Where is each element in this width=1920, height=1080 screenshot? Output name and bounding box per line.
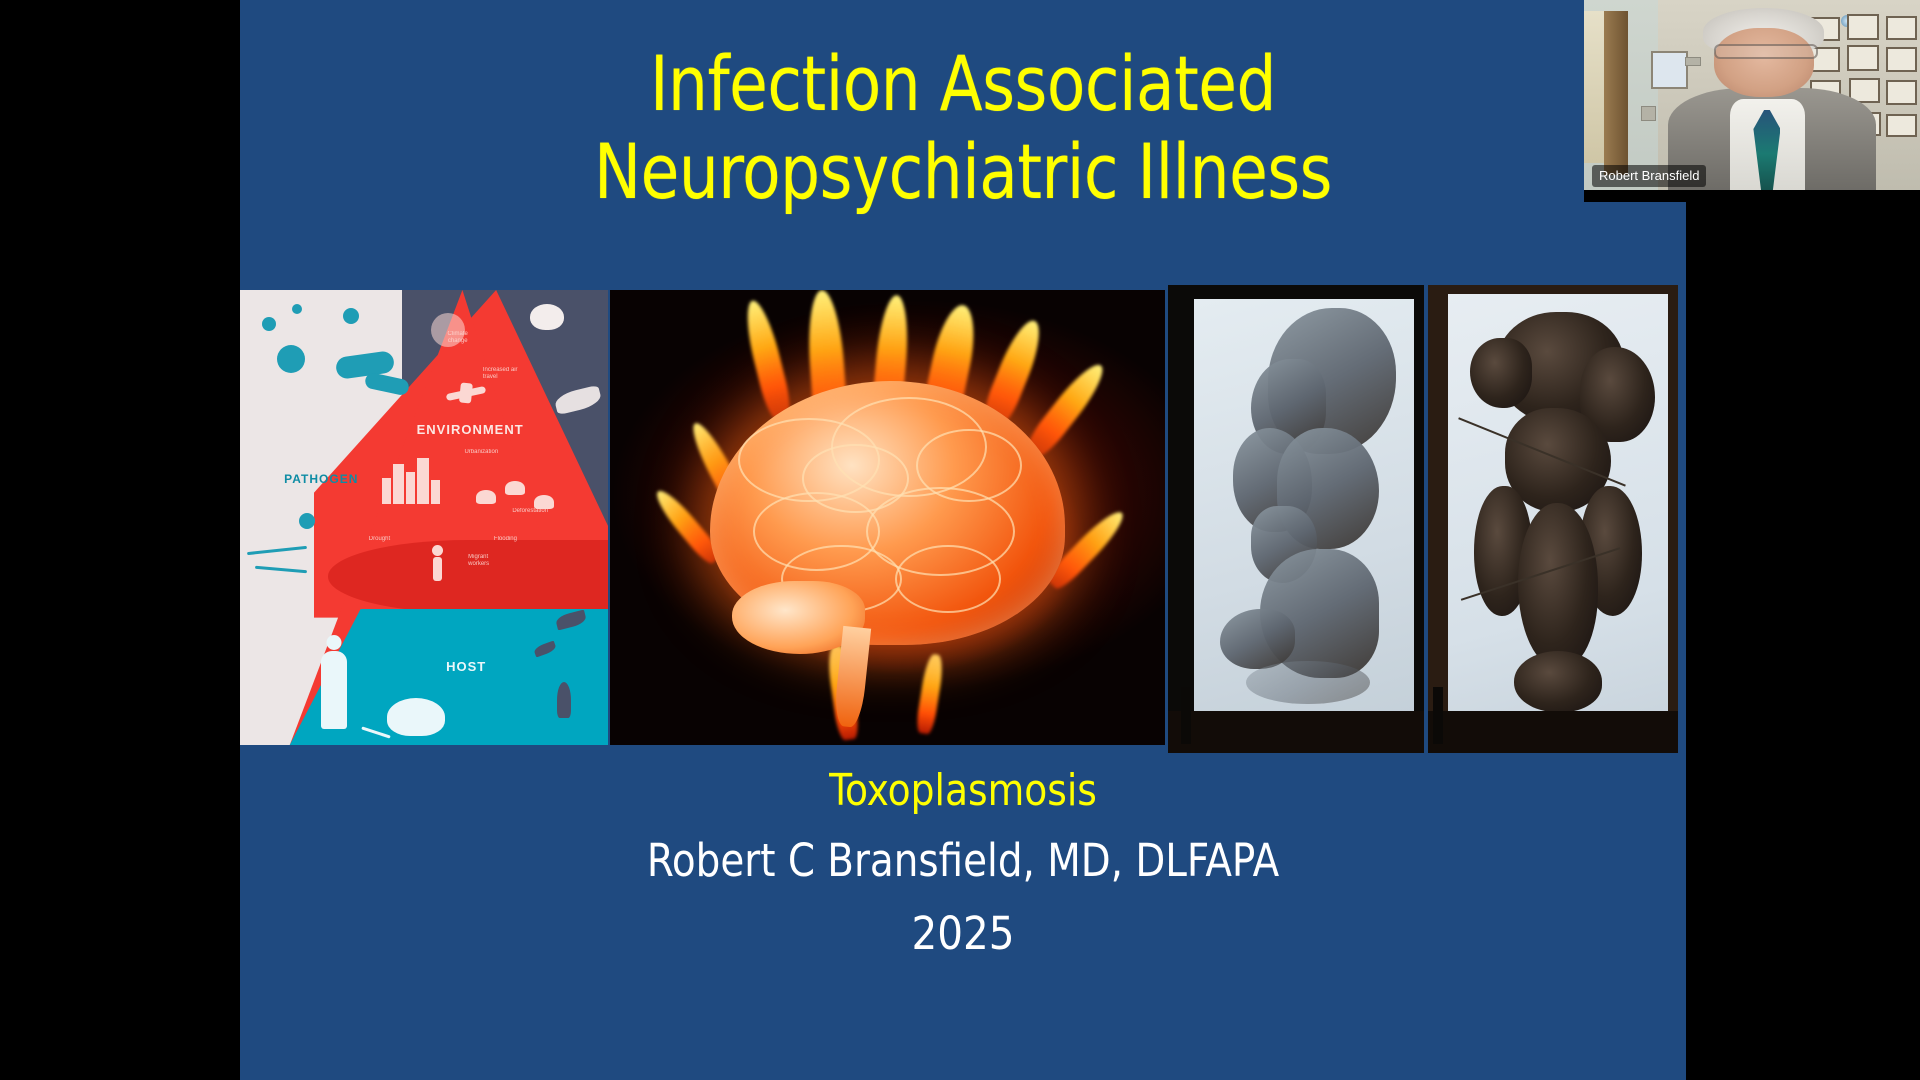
virus-icon <box>299 513 315 529</box>
infographic-flow-band <box>328 540 608 613</box>
infographic-sublabel-air-travel: Increased air travel <box>483 367 527 381</box>
infographic-sublabel-urbanization: Urbanization <box>464 449 498 456</box>
bird-icon <box>557 682 571 718</box>
grotesque-figure-painting <box>1168 285 1424 753</box>
human-figure-icon <box>321 635 347 731</box>
infographic-label-environment: ENVIRONMENT <box>417 422 524 437</box>
slide-title-line-2: Neuropsychiatric Illness <box>298 128 1628 216</box>
slide-author: Robert C Bransfield, MD, DLFAPA <box>269 824 1657 898</box>
participant-name-label: Robert Bransfield <box>1592 165 1706 187</box>
eyeglasses <box>1714 44 1818 59</box>
migrant-walker-icon <box>431 545 445 581</box>
presentation-slide: Infection Associated Neuropsychiatric Il… <box>240 0 1686 1080</box>
spirochete-icon <box>247 546 307 555</box>
infographic-sublabel-migrant-workers: Migrant workers <box>468 554 500 568</box>
slide-title-line-1: Infection Associated <box>298 40 1628 128</box>
infographic-sublabel-flooding: Flooding <box>494 536 517 543</box>
slide-subtitle-block: Toxoplasmosis Robert C Bransfield, MD, D… <box>240 758 1686 970</box>
virus-icon <box>343 308 359 324</box>
podium-silhouette <box>1433 687 1443 743</box>
infographic-sublabel-drought: Drought <box>369 536 390 543</box>
ink-drawing-distorted-face <box>1428 285 1678 753</box>
infographic-label-pathogen: PATHOGEN <box>284 472 358 486</box>
infographic-sublabel-deforestation: Deforestation <box>512 508 548 515</box>
city-skyline-icon <box>380 454 450 504</box>
pathogen-environment-host-infographic: PATHOGEN ENVIRONMENT HOST Climate change… <box>240 290 608 745</box>
drawing-canvas <box>1448 294 1668 729</box>
flaming-brain-photo <box>610 290 1165 745</box>
stage-floor <box>1168 711 1424 753</box>
virus-icon <box>277 345 305 373</box>
stage-floor <box>1428 711 1678 753</box>
monkey-icon <box>387 698 445 736</box>
face <box>1714 28 1814 97</box>
spirochete-icon <box>255 565 307 573</box>
virus-icon <box>262 317 276 331</box>
podium-silhouette <box>1181 687 1191 743</box>
virus-icon <box>292 304 302 314</box>
painting-canvas <box>1194 299 1414 730</box>
screen: Infection Associated Neuropsychiatric Il… <box>0 0 1920 1080</box>
participant-video-tile[interactable]: Robert Bransfield <box>1584 0 1920 190</box>
wall-switch <box>1641 106 1656 121</box>
slide-topic: Toxoplasmosis <box>276 758 1650 824</box>
tick-icon <box>530 304 564 330</box>
tree-icon <box>476 490 496 504</box>
door-frame <box>1604 11 1628 174</box>
tree-icon <box>534 495 554 509</box>
slide-year: 2025 <box>240 898 1686 970</box>
person-figure <box>1668 8 1876 190</box>
infographic-sublabel-climate-change: Climate change <box>439 331 477 345</box>
slide-image-strip: PATHOGEN ENVIRONMENT HOST Climate change… <box>240 285 1686 750</box>
slide-title: Infection Associated Neuropsychiatric Il… <box>298 40 1628 216</box>
infographic-label-host: HOST <box>446 659 486 674</box>
tree-icon <box>505 481 525 495</box>
video-scene <box>1584 0 1920 190</box>
video-tile-bottom-bar <box>1584 190 1920 202</box>
infographic-host-right <box>476 609 608 746</box>
